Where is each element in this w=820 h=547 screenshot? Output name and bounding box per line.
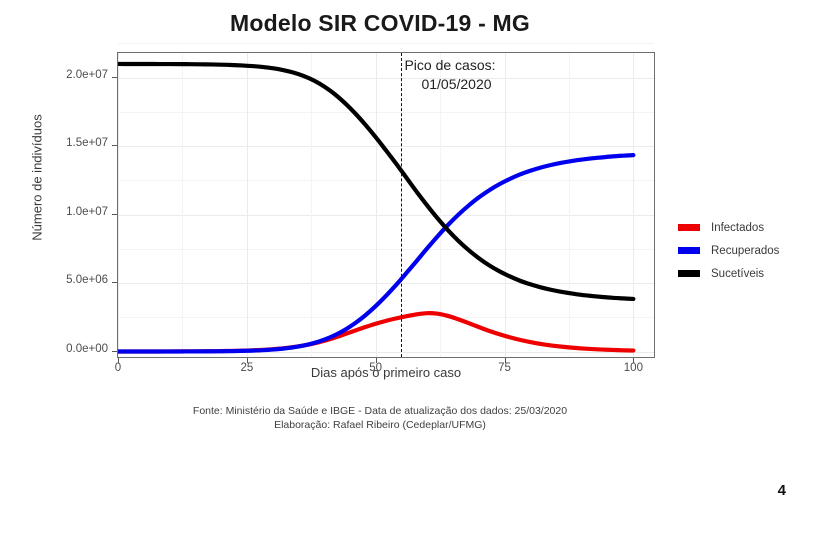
x-axis-tick-label: 75: [485, 362, 525, 374]
legend-item-label: Recuperados: [711, 245, 779, 257]
page-number: 4: [778, 482, 786, 499]
peak-annotation-line2: 01/05/2020: [404, 75, 495, 94]
x-axis-tick-mark: [247, 358, 248, 363]
legend-item: Infectados: [678, 216, 779, 239]
legend: InfectadosRecuperadosSucetíveis: [678, 216, 779, 285]
peak-annotation-line1: Pico de casos:: [404, 57, 495, 73]
footnote-line-1: Fonte: Ministério da Saúde e IBGE - Data…: [0, 405, 760, 419]
peak-marker-line: [401, 53, 402, 357]
y-axis-tick-label: 1.0e+07: [52, 206, 108, 218]
chart-container: Número de indivíduos Dias após o primeir…: [0, 40, 820, 440]
legend-item: Sucetíveis: [678, 262, 779, 285]
legend-color-swatch: [678, 247, 700, 254]
plot-panel: Pico de casos: 01/05/2020: [117, 52, 655, 358]
x-axis-tick-label: 50: [356, 362, 396, 374]
x-axis-tick-label: 25: [227, 362, 267, 374]
legend-color-swatch: [678, 224, 700, 231]
page-title: Modelo SIR COVID-19 - MG: [0, 10, 760, 37]
series-lines: [118, 53, 654, 357]
y-axis-tick-label: 1.5e+07: [52, 137, 108, 149]
x-axis-tick-label: 100: [613, 362, 653, 374]
slide: Modelo SIR COVID-19 - MG Número de indiv…: [0, 0, 820, 547]
x-axis-tick-mark: [376, 358, 377, 363]
series-line-sucetíveis: [118, 64, 633, 299]
footnote-line-2: Elaboração: Rafael Ribeiro (Cedeplar/UFM…: [0, 419, 760, 433]
x-axis-tick-mark: [118, 358, 119, 363]
x-axis-tick-mark: [505, 358, 506, 363]
legend-item-label: Infectados: [711, 222, 764, 234]
y-axis-title: Número de indivíduos: [30, 48, 45, 308]
legend-item-label: Sucetíveis: [711, 268, 764, 280]
x-axis-tick-label: 0: [98, 362, 138, 374]
y-axis-tick-label: 5.0e+06: [52, 274, 108, 286]
peak-annotation: Pico de casos: 01/05/2020: [404, 56, 495, 94]
footnote: Fonte: Ministério da Saúde e IBGE - Data…: [0, 405, 760, 432]
x-axis-tick-mark: [633, 358, 634, 363]
gridline: [118, 43, 654, 44]
legend-item: Recuperados: [678, 239, 779, 262]
series-line-infectados: [118, 313, 633, 351]
y-axis-tick-label: 0.0e+00: [52, 343, 108, 355]
legend-color-swatch: [678, 270, 700, 277]
y-axis-tick-label: 2.0e+07: [52, 69, 108, 81]
